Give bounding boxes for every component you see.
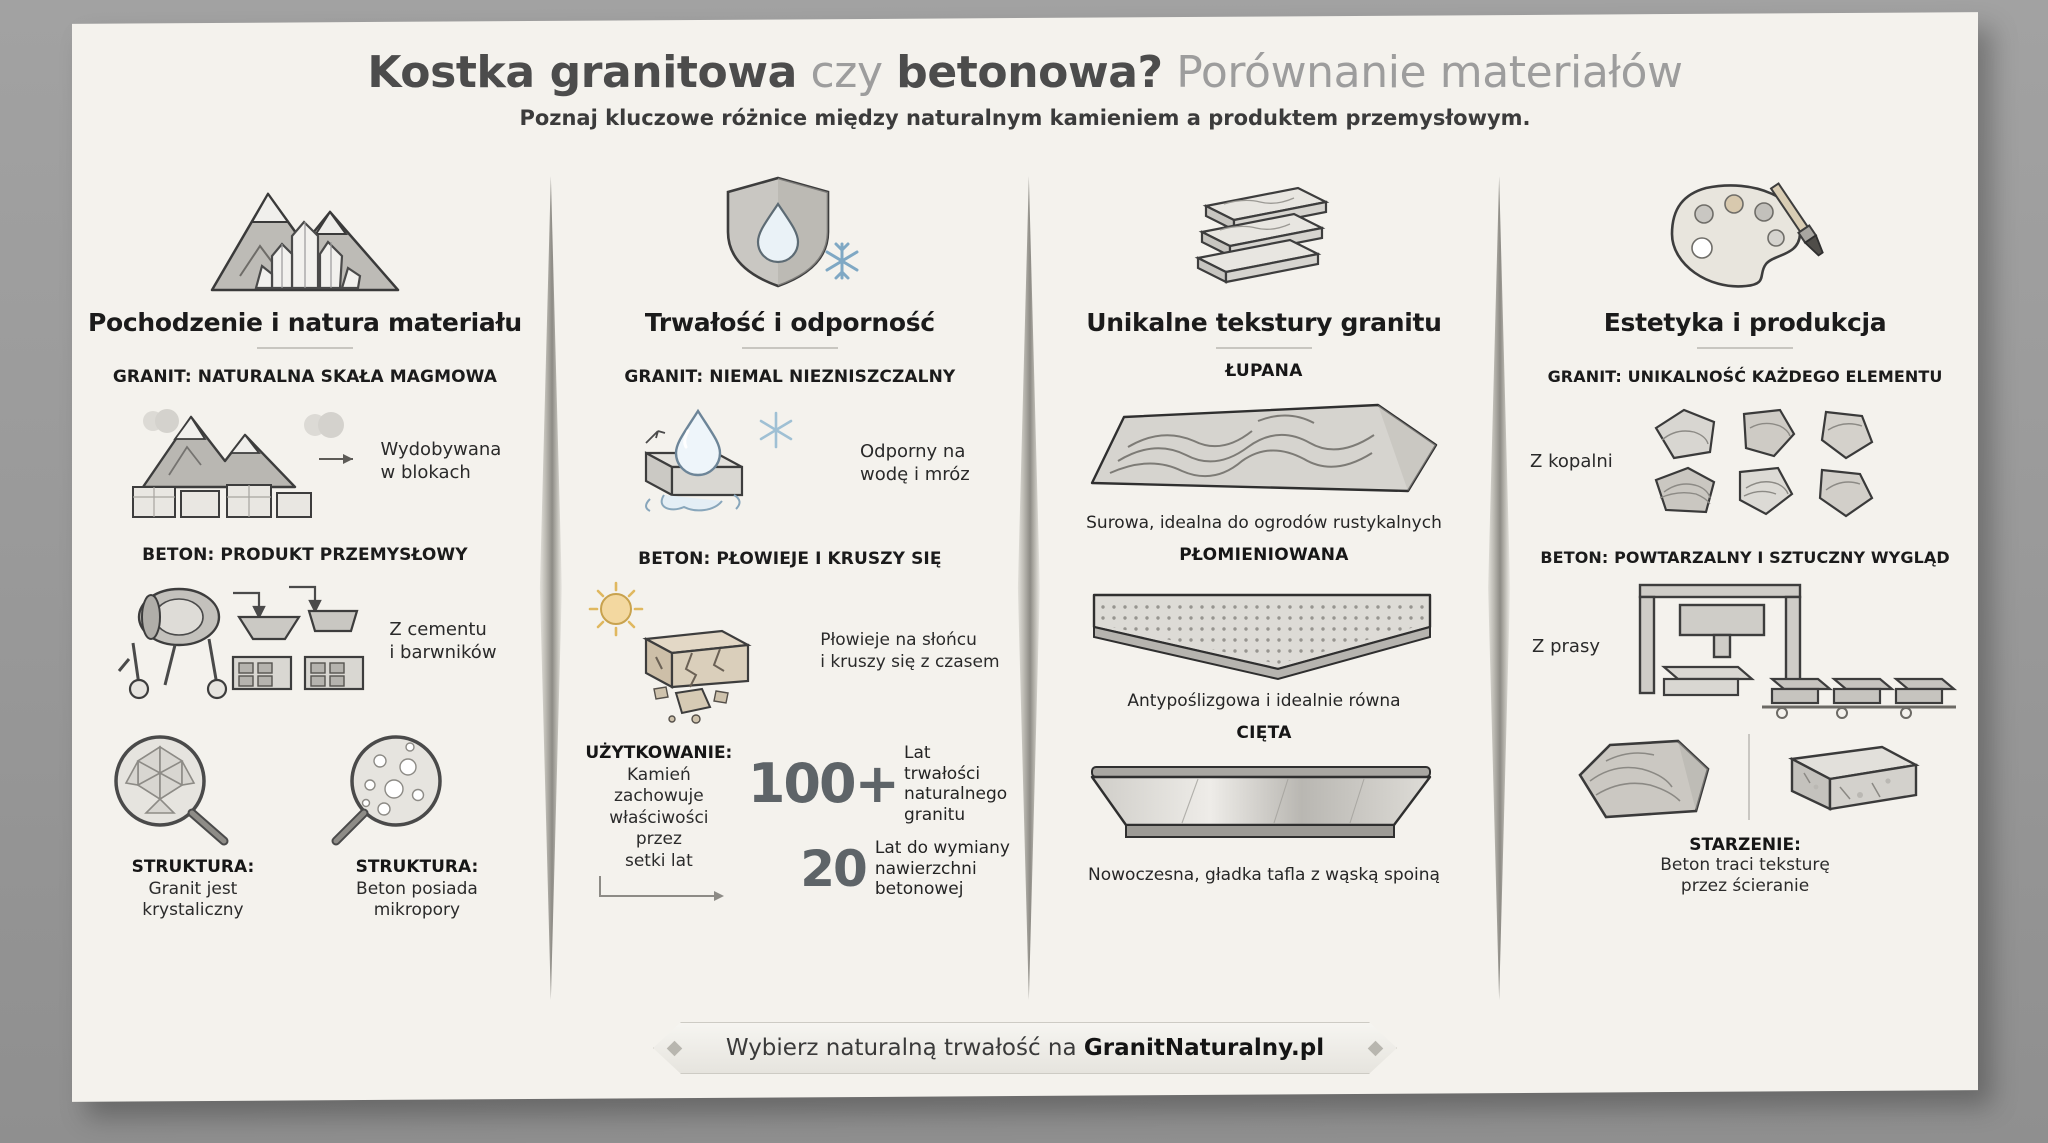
durability-stats: UŻYTKOWANIE: Kamień zachowuje właściwośc… (578, 743, 1002, 906)
structure-granite-label: STRUKTURA: (98, 857, 288, 877)
column-divider-2 (1016, 166, 1042, 1026)
column-title-textures: Unikalne tekstury granitu (1056, 308, 1472, 337)
column-origin: Pochodzenie i natura materiału GRANIT: N… (72, 166, 538, 1026)
granite-heading-durability: GRANIT: NIEMAL NIEZNISZCZALNY (578, 367, 1002, 387)
usage-label: UŻYTKOWANIE: (584, 743, 734, 763)
footer-text: Wybierz naturalną trwałość na GranitNatu… (726, 1035, 1324, 1061)
granite-water-row: Odporny na wodę i mróz (578, 395, 1002, 531)
structure-granite: STRUKTURA: Granit jest krystaliczny (98, 727, 288, 922)
granite-quarry-row: Wydobywana w blokach (86, 395, 524, 527)
shield-water-frost-icon (578, 166, 1002, 294)
divider-rule (742, 347, 838, 349)
mountain-crystal-icon (86, 166, 524, 294)
cement-mixer-icon (113, 573, 379, 709)
concrete-heading-origin: BETON: PRODUKT PRZEMYSŁOWY (86, 545, 524, 565)
concrete-crumble-row: Płowieje na słońcu i kruszy się z czasem (578, 577, 1002, 727)
connector-arrow-icon (584, 874, 734, 906)
column-divider-3 (1486, 166, 1512, 1026)
concrete-heading-aesthetics: BETON: POWTARZALNY I SZTUCZNY WYGLĄD (1526, 548, 1964, 567)
granite-caption-durability: Odporny na wodę i mróz (860, 440, 970, 486)
column-title-origin: Pochodzenie i natura materiału (86, 308, 524, 337)
texture-cut-image (1056, 749, 1472, 857)
granite-caption-aesthetics: Z kopalni (1530, 450, 1622, 473)
concrete-mixer-row: Z cementu i barwników (86, 573, 524, 709)
title-part-1: Kostka granitowa (367, 47, 797, 98)
page-subtitle: Poznaj kluczowe różnice między naturalny… (72, 106, 1978, 130)
column-textures: Unikalne tekstury granitu ŁUPANA Surowa,… (1042, 166, 1486, 1026)
granite-heading-aesthetics: GRANIT: UNIKALNOŚĆ KAŻDEGO ELEMENTU (1526, 367, 1964, 386)
stat-label: Lat trwałości naturalnego granitu (904, 743, 1010, 826)
texture-caption-split: Surowa, idealna do ogrodów rustykalnych (1056, 513, 1472, 533)
footer-brand: GranitNaturalny.pl (1084, 1035, 1324, 1061)
texture-caption-cut: Nowoczesna, gładka tafla z wąską spoiną (1056, 865, 1472, 885)
press-machine-icon (1622, 575, 1958, 719)
texture-flamed-image (1056, 571, 1472, 683)
stat-row: 20 Lat do wymiany nawierzchni betonowej (748, 838, 1010, 900)
granite-heading-origin: GRANIT: NATURALNA SKAŁA MAGMOWA (86, 367, 524, 387)
concrete-caption-durability: Płowieje na słońcu i kruszy się z czasem (820, 630, 999, 674)
texture-label-cut: CIĘTA (1056, 723, 1472, 743)
texture-label-split: ŁUPANA (1056, 361, 1472, 381)
footer-text-plain: Wybierz naturalną trwałość na (726, 1035, 1084, 1061)
worn-concrete-stone-icon (1776, 725, 1928, 829)
usage-note: UŻYTKOWANIE: Kamień zachowuje właściwośc… (584, 743, 734, 906)
structure-concrete: STRUKTURA: Beton posiada mikropory (322, 727, 512, 922)
aging-row (1526, 725, 1964, 829)
stat-value: 100+ (748, 757, 895, 811)
quarry-blocks-icon (109, 395, 371, 527)
page-title: Kostka granitowa czy betonowa? Porównani… (72, 48, 1978, 97)
concrete-press-row: Z prasy (1526, 575, 1964, 719)
texture-caption-flamed: Antypoślizgowa i idealnie równa (1056, 691, 1472, 711)
title-part-2: czy (811, 47, 883, 98)
stat-row: 100+ Lat trwałości naturalnego granitu (748, 743, 1010, 826)
unique-stones-icon (1640, 394, 1960, 530)
structure-comparison: STRUKTURA: Granit jest krystaliczny (86, 727, 524, 922)
structure-concrete-text: Beton posiada mikropory (322, 879, 512, 922)
column-title-aesthetics: Estetyka i produkcja (1526, 308, 1964, 337)
magnifier-crystal-icon (98, 727, 248, 851)
texture-label-flamed: PŁOMIENIOWANA (1056, 545, 1472, 565)
worn-granite-stone-icon (1562, 725, 1722, 829)
usage-text: Kamień zachowuje właściwości przez setki… (584, 765, 734, 872)
infographic-panel: Kostka granitowa czy betonowa? Porównani… (72, 12, 1978, 1102)
texture-split-image (1056, 387, 1472, 505)
column-aesthetics: Estetyka i produkcja GRANIT: UNIKALNOŚĆ … (1512, 166, 1978, 1026)
sun-cracked-block-icon (580, 577, 810, 727)
concrete-heading-durability: BETON: PŁOWIEJE I KRUSZY SIĘ (578, 549, 1002, 569)
structure-granite-text: Granit jest krystaliczny (98, 879, 288, 922)
stat-label: Lat do wymiany nawierzchni betonowej (875, 838, 1010, 900)
concrete-caption-aesthetics: Z prasy (1532, 635, 1612, 658)
magnifier-micropores-icon (322, 727, 472, 851)
divider-rule (1216, 347, 1312, 349)
divider-rule (257, 347, 353, 349)
granite-stones-row: Z kopalni (1526, 394, 1964, 530)
comparison-columns: Pochodzenie i natura materiału GRANIT: N… (72, 166, 1978, 1026)
stacked-slabs-icon (1056, 166, 1472, 294)
aging-divider (1748, 734, 1750, 820)
granite-caption-origin: Wydobywana w blokach (381, 438, 502, 484)
structure-concrete-label: STRUKTURA: (322, 857, 512, 877)
column-durability: Trwałość i odporność GRANIT: NIEMAL NIEZ… (564, 166, 1016, 1026)
water-frost-block-icon (610, 395, 850, 531)
footer-ribbon: Wybierz naturalną trwałość na GranitNatu… (653, 1022, 1397, 1074)
aging-label: STARZENIE: (1526, 835, 1964, 855)
column-divider-1 (538, 166, 564, 1026)
stat-rows: 100+ Lat trwałości naturalnego granitu 2… (748, 743, 1010, 900)
title-part-3: betonowa? (896, 47, 1162, 98)
aging-text: Beton traci teksturę przez ścieranie (1526, 855, 1964, 898)
concrete-caption-origin: Z cementu i barwników (389, 618, 496, 664)
stat-value: 20 (748, 844, 866, 894)
palette-brush-icon (1526, 166, 1964, 294)
header: Kostka granitowa czy betonowa? Porównani… (72, 18, 1978, 130)
title-part-4: Porównanie materiałów (1176, 47, 1682, 98)
divider-rule (1697, 347, 1793, 349)
column-title-durability: Trwałość i odporność (578, 308, 1002, 337)
